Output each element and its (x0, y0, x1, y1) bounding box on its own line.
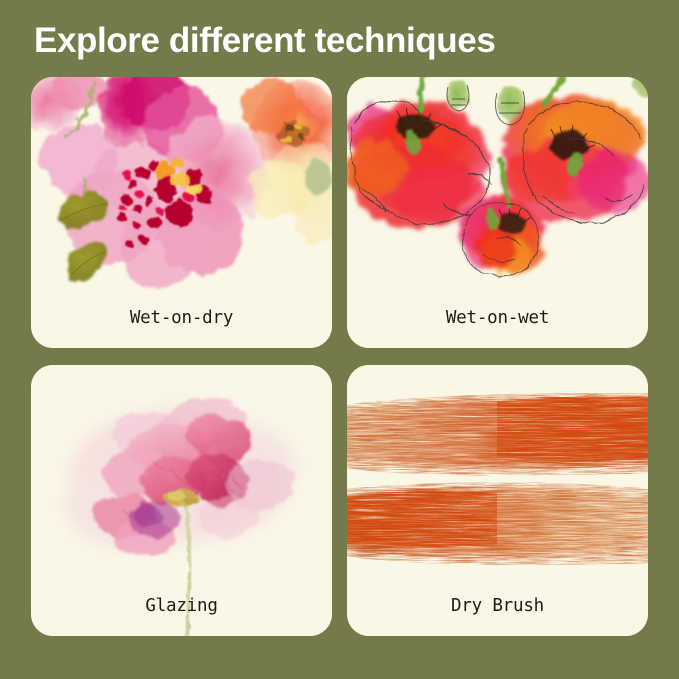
page-title: Explore different techniques (34, 19, 495, 63)
technique-card-dry-brush[interactable]: Dry Brush (347, 365, 648, 636)
technique-card-grid: Wet-on-dry (31, 77, 648, 647)
technique-card-wet-on-dry[interactable]: Wet-on-dry (31, 77, 332, 348)
technique-label-wet-on-wet: Wet-on-wet (347, 308, 648, 328)
technique-card-wet-on-wet[interactable]: Wet-on-wet (347, 77, 648, 348)
technique-label-dry-brush: Dry Brush (347, 596, 648, 616)
technique-label-glazing: Glazing (31, 596, 332, 616)
technique-label-wet-on-dry: Wet-on-dry (31, 308, 332, 328)
technique-card-glazing[interactable]: Glazing (31, 365, 332, 636)
poster-root: Explore different techniques (0, 0, 679, 679)
